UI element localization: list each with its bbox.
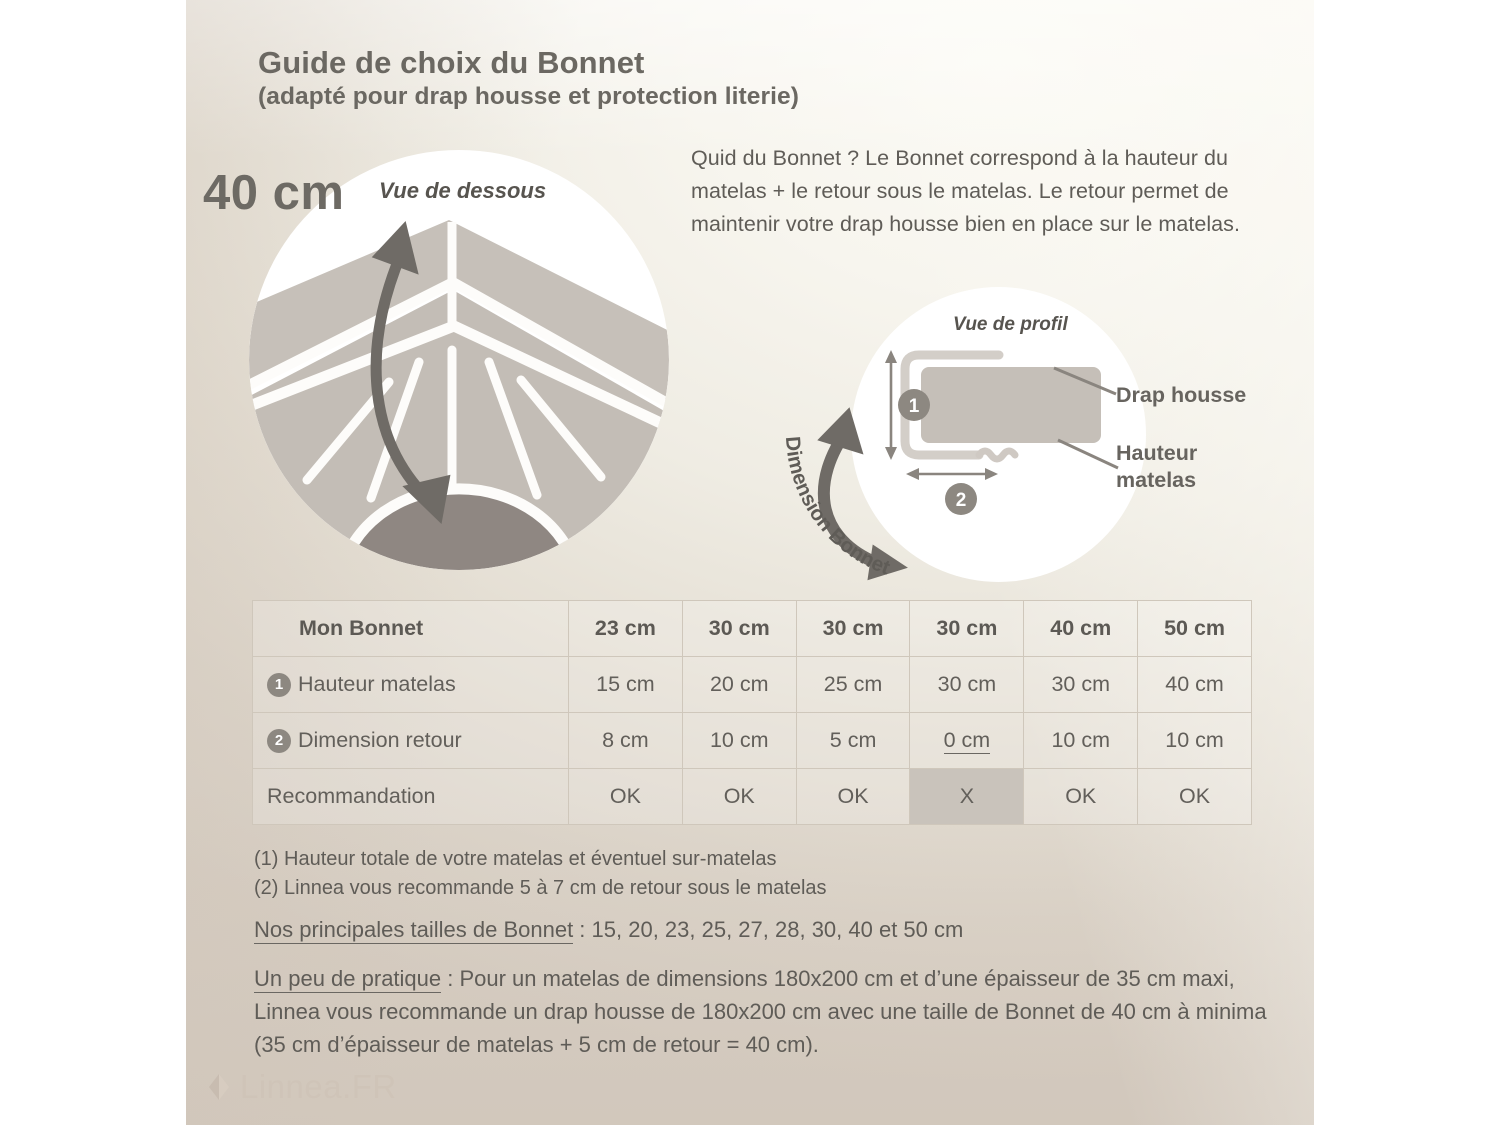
table-cell-bonnet-1: 30 cm	[682, 601, 796, 657]
badge-2: 2	[267, 729, 291, 753]
sizes-value: : 15, 20, 23, 25, 27, 28, 30, 40 et 50 c…	[573, 917, 963, 942]
bonnet-measure-label: 40 cm	[203, 165, 344, 221]
table-row-label-retour: 2Dimension retour	[253, 713, 569, 769]
practice-label: Un peu de pratique	[254, 966, 441, 993]
table-cell-retour-1: 10 cm	[682, 713, 796, 769]
table-cell-reco-2: OK	[796, 769, 910, 825]
dimension-bonnet-arc: Dimension Bonnet	[776, 395, 1006, 585]
underlined-value: 0 cm	[944, 728, 991, 754]
callout-drap-housse: Drap housse	[1116, 382, 1246, 409]
footnote-2: (2) Linnea vous recommande 5 à 7 cm de r…	[254, 874, 1234, 903]
table-cell-reco-4: OK	[1024, 769, 1138, 825]
table-cell-bonnet-3: 30 cm	[910, 601, 1024, 657]
table-cell-reco-0: OK	[569, 769, 683, 825]
sizes-label: Nos principales tailles de Bonnet	[254, 917, 573, 944]
table-cell-bonnet-4: 40 cm	[1024, 601, 1138, 657]
table-cell-retour-5: 10 cm	[1138, 713, 1252, 769]
table-cell-retour-2: 5 cm	[796, 713, 910, 769]
footnote-1: (1) Hauteur totale de votre matelas et é…	[254, 845, 1234, 874]
callout-hauteur-matelas: Hauteur matelas	[1116, 440, 1197, 494]
table-cell-bonnet-0: 23 cm	[569, 601, 683, 657]
linnea-logo[interactable]: Linnea.FR	[208, 1068, 397, 1106]
title-line-1: Guide de choix du Bonnet	[258, 44, 1138, 82]
profile-view-label: Vue de profil	[953, 314, 1068, 336]
callout-hauteur-line1: Hauteur	[1116, 440, 1197, 467]
table-row-hauteur: 1Hauteur matelas15 cm20 cm25 cm30 cm30 c…	[253, 657, 1252, 713]
table-cell-reco-3: X	[910, 769, 1024, 825]
table-cell-retour-4: 10 cm	[1024, 713, 1138, 769]
bottom-view-label: Vue de dessous	[379, 178, 546, 204]
practice-paragraph: Un peu de pratique : Pour un matelas de …	[254, 962, 1274, 1061]
table-row-label-reco: Recommandation	[253, 769, 569, 825]
table-row-reco: RecommandationOKOKOKXOKOK	[253, 769, 1252, 825]
table-cell-hauteur-0: 15 cm	[569, 657, 683, 713]
table-cell-hauteur-3: 30 cm	[910, 657, 1024, 713]
table-row-header: Mon Bonnet23 cm30 cm30 cm30 cm40 cm50 cm	[253, 601, 1252, 657]
infographic-stage: Guide de choix du Bonnet (adapté pour dr…	[0, 0, 1500, 1125]
sizes-line: Nos principales tailles de Bonnet : 15, …	[254, 915, 1254, 945]
logo-text: Linnea.FR	[240, 1068, 397, 1106]
table-cell-hauteur-4: 30 cm	[1024, 657, 1138, 713]
page-title: Guide de choix du Bonnet (adapté pour dr…	[258, 44, 1138, 112]
callout-hauteur-line2: matelas	[1116, 467, 1197, 494]
table-cell-hauteur-2: 25 cm	[796, 657, 910, 713]
table-cell-bonnet-5: 50 cm	[1138, 601, 1252, 657]
bonnet-table: Mon Bonnet23 cm30 cm30 cm30 cm40 cm50 cm…	[252, 600, 1252, 825]
table-cell-hauteur-1: 20 cm	[682, 657, 796, 713]
table-cell-hauteur-5: 40 cm	[1138, 657, 1252, 713]
table-cell-reco-1: OK	[682, 769, 796, 825]
content-panel: Guide de choix du Bonnet (adapté pour dr…	[186, 0, 1314, 1125]
table-cell-retour-3: 0 cm	[910, 713, 1024, 769]
intro-paragraph: Quid du Bonnet ? Le Bonnet correspond à …	[691, 142, 1271, 241]
footnotes: (1) Hauteur totale de votre matelas et é…	[254, 845, 1234, 903]
table-row-retour: 2Dimension retour8 cm10 cm5 cm0 cm10 cm1…	[253, 713, 1252, 769]
badge-1: 1	[267, 673, 291, 697]
table-cell-reco-5: OK	[1138, 769, 1252, 825]
table-header-label: Mon Bonnet	[253, 601, 569, 657]
table-cell-bonnet-2: 30 cm	[796, 601, 910, 657]
table-cell-retour-0: 8 cm	[569, 713, 683, 769]
table-row-label-hauteur: 1Hauteur matelas	[253, 657, 569, 713]
title-line-2: (adapté pour drap housse et protection l…	[258, 82, 1138, 112]
diamond-icon	[208, 1072, 230, 1102]
